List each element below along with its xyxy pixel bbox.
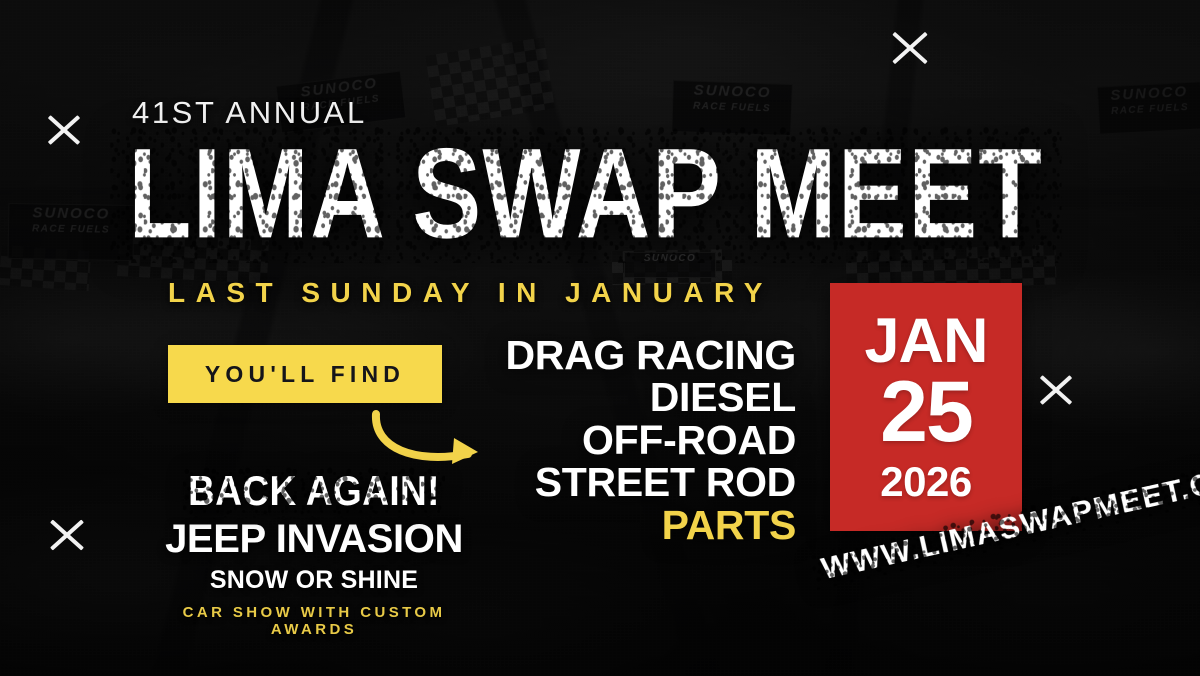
snow-or-shine-label: SNOW OR SHINE (150, 566, 478, 595)
event-poster: SUNOCO RACE FUELS SUNOCO RACE FUELS SUNO… (0, 0, 1200, 676)
parts-list-accent-word: PARTS (505, 506, 796, 545)
car-show-awards-label: CAR SHOW WITH CUSTOM AWARDS (150, 604, 478, 638)
parts-list-item: OFF-ROAD (505, 421, 796, 460)
jeep-invasion-headline: JEEP INVASION (150, 517, 478, 562)
event-date-month: JAN (864, 311, 987, 371)
jeep-invasion-block: BACK AGAIN! JEEP INVASION SNOW OR SHINE … (150, 468, 478, 638)
event-date-day: 25 (880, 373, 972, 452)
parts-list-item: DIESEL (505, 378, 796, 417)
parts-category-list: DRAG RACING DIESEL OFF-ROAD STREET ROD P… (505, 336, 796, 546)
youll-find-label: YOU'LL FIND (205, 361, 405, 388)
youll-find-badge: YOU'LL FIND (168, 345, 442, 403)
event-schedule-subtitle: LAST SUNDAY IN JANUARY (168, 277, 773, 309)
event-date-badge: JAN 25 2026 (830, 283, 1022, 531)
parts-list-item: STREET ROD (505, 463, 796, 502)
page-title-text: LIMA SWAP MEET (128, 130, 1043, 258)
back-again-label: BACK AGAIN! (188, 468, 440, 515)
parts-list-item: DRAG RACING (505, 336, 796, 375)
event-date-year: 2026 (880, 461, 971, 503)
curved-arrow-icon (368, 404, 498, 476)
page-title: LIMA SWAP MEET (128, 130, 1043, 258)
